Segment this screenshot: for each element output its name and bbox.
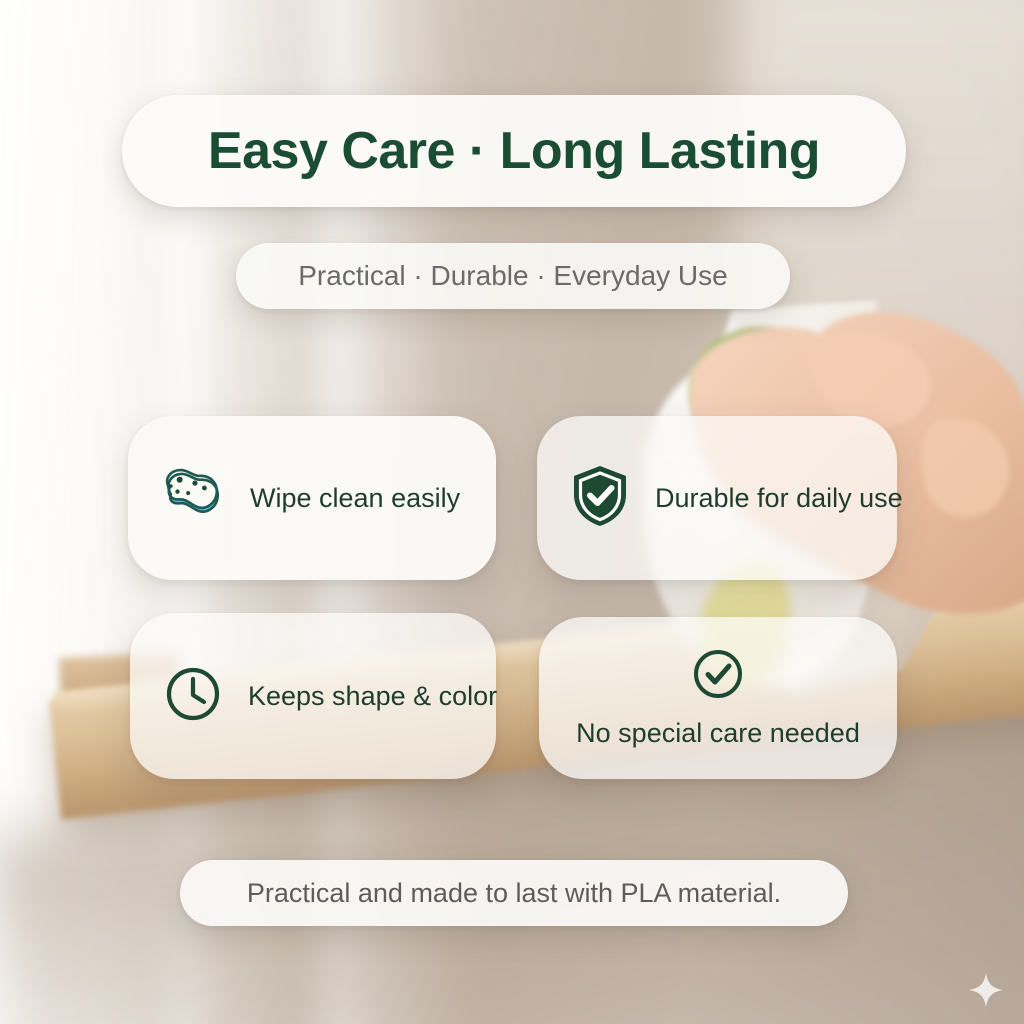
feature-card-wipe[interactable]: Wipe clean easily [128,416,496,580]
clock-icon [164,665,222,728]
check-circle-icon [691,647,745,706]
footer-text: Practical and made to last with PLA mate… [247,878,781,909]
sparkle-icon [968,972,1004,1008]
page-subtitle: Practical · Durable · Everyday Use [298,260,727,292]
shield-check-icon [571,464,629,533]
title-pill: Easy Care · Long Lasting [122,95,906,207]
poster-canvas: Easy Care · Long Lasting Practical · Dur… [0,0,1024,1024]
page-title: Easy Care · Long Lasting [208,121,820,181]
feature-label-wipe: Wipe clean easily [250,483,460,514]
feature-label-shape: Keeps shape & color [248,681,497,712]
subtitle-pill: Practical · Durable · Everyday Use [236,243,790,309]
sponge-icon [162,467,224,530]
feature-label-durable: Durable for daily use [655,483,903,514]
feature-card-nocare[interactable]: No special care needed [539,617,897,779]
feature-card-shape[interactable]: Keeps shape & color [130,613,496,779]
footer-pill: Practical and made to last with PLA mate… [180,860,848,926]
feature-card-durable[interactable]: Durable for daily use [537,416,897,580]
feature-label-nocare: No special care needed [576,718,860,749]
